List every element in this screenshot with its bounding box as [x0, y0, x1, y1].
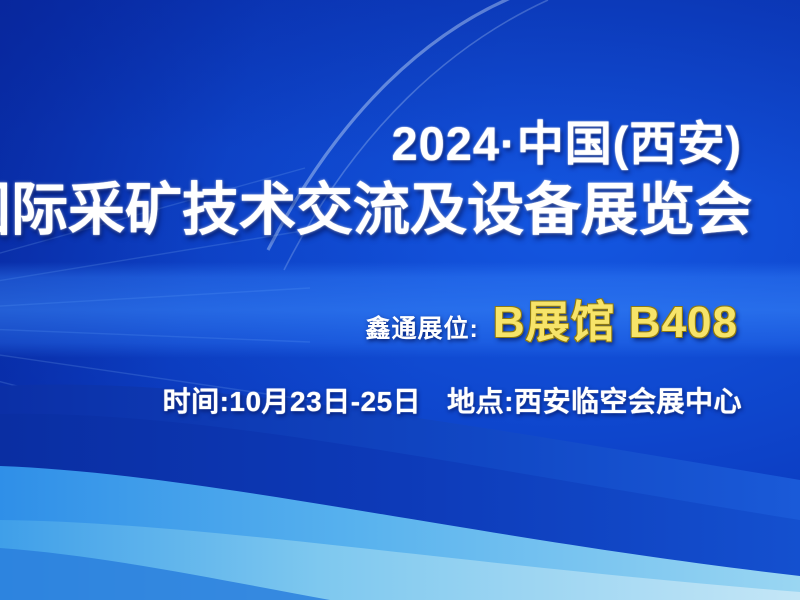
booth-number: B展馆 B408: [493, 286, 738, 350]
booth-label: 鑫通展位:: [365, 309, 478, 345]
event-venue: 地点:西安临空会展中心: [447, 380, 742, 420]
event-title-line-2: 国际采矿技术交流及设备展览会: [0, 182, 752, 239]
poster-content: 2024·中国(西安) 国际采矿技术交流及设备展览会 鑫通展位: B展馆 B40…: [0, 0, 800, 600]
event-meta-row: 时间:10月23日-25日 地点:西安临空会展中心: [163, 380, 742, 420]
booth-row: 鑫通展位: B展馆 B408: [365, 286, 738, 350]
event-date: 时间:10月23日-25日: [163, 380, 422, 420]
event-poster: 2024·中国(西安) 国际采矿技术交流及设备展览会 鑫通展位: B展馆 B40…: [0, 0, 800, 600]
event-title-line-1: 2024·中国(西安): [391, 120, 742, 167]
